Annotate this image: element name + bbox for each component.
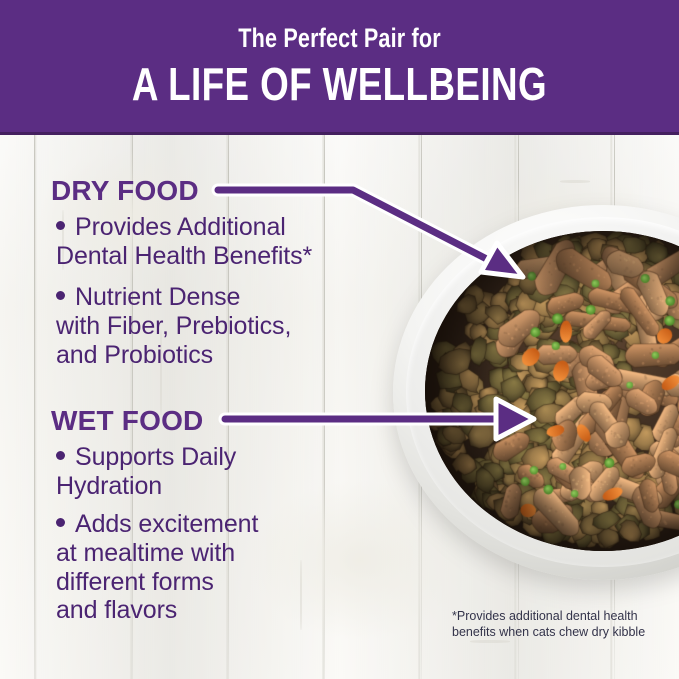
footnote-disclaimer: *Provides additional dental health benef…: [452, 609, 667, 640]
bullet-text: Provides Additional Dental Health Benefi…: [56, 213, 312, 270]
dry-food-bullet-2: Nutrient Dense with Fiber, Prebiotics, a…: [56, 283, 386, 369]
bullet-dot-icon: [56, 291, 65, 300]
wet-food-heading: WET FOOD: [51, 407, 203, 435]
dry-food-bullet-1: Provides Additional Dental Health Benefi…: [56, 213, 386, 271]
dry-food-heading: DRY FOOD: [51, 177, 199, 205]
wet-food-bullet-2: Adds excitement at mealtime with differe…: [56, 510, 386, 625]
cat-food-bowl-photo: [393, 205, 679, 585]
header-title: A LIFE OF WELLBEING: [132, 61, 547, 107]
header-band: The Perfect Pair for A LIFE OF WELLBEING: [0, 0, 679, 135]
bullet-dot-icon: [56, 221, 65, 230]
bullet-text: Nutrient Dense with Fiber, Prebiotics, a…: [56, 283, 291, 369]
header-subtitle: The Perfect Pair for: [238, 25, 440, 52]
bullet-dot-icon: [56, 451, 65, 460]
bullet-text: Supports Daily Hydration: [56, 443, 236, 500]
bullet-text: Adds excitement at mealtime with differe…: [56, 510, 258, 624]
wet-food-bullet-1: Supports Daily Hydration: [56, 443, 386, 501]
infographic-root: The Perfect Pair for A LIFE OF WELLBEING…: [0, 0, 679, 679]
bullet-dot-icon: [56, 518, 65, 527]
